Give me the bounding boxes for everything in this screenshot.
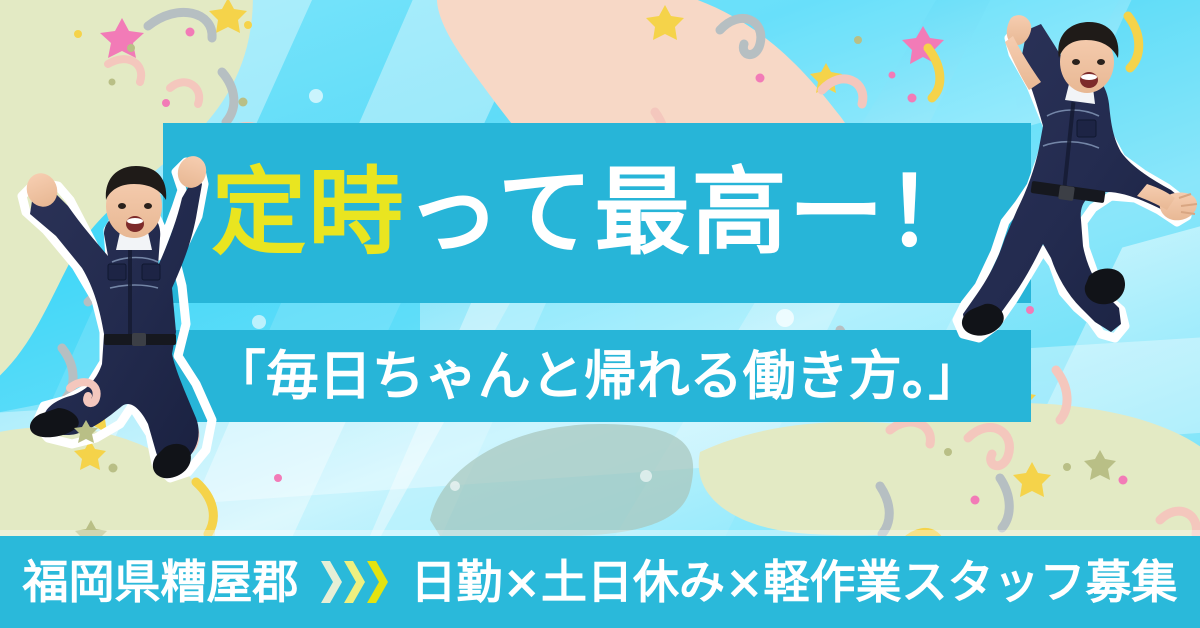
chevron-right-icon [320,559,342,605]
blob-bottom-right-khaki-2 [699,422,986,535]
chevron-group [320,559,388,605]
chevron-right-icon [343,559,365,605]
headline-rest: って最高ー！ [405,166,982,261]
person-right-jumping-worker [935,8,1200,408]
blob-bottom-right-khaki [856,403,1200,536]
location-label: 福岡県糟屋郡 [22,559,298,605]
subtitle-text: 「毎日ちゃんと帰れる働き方。」 [213,350,982,403]
chevron-right-icon [366,559,388,605]
headline-text: 定時って最高ー！ [211,166,982,261]
blob-bottom-center-sage [430,424,693,536]
job-description-label: 日勤×土日休み×軽作業スタッフ募集 [410,559,1177,605]
bottom-info-bar: 福岡県糟屋郡 日勤×土日休み×軽作業スタッフ募集 [0,536,1200,628]
person-left-jumping-worker [0,138,300,518]
job-ad-banner: 定時って最高ー！ 「毎日ちゃんと帰れる働き方。」 福岡県糟屋郡 日勤×土日休み×… [0,0,1200,628]
